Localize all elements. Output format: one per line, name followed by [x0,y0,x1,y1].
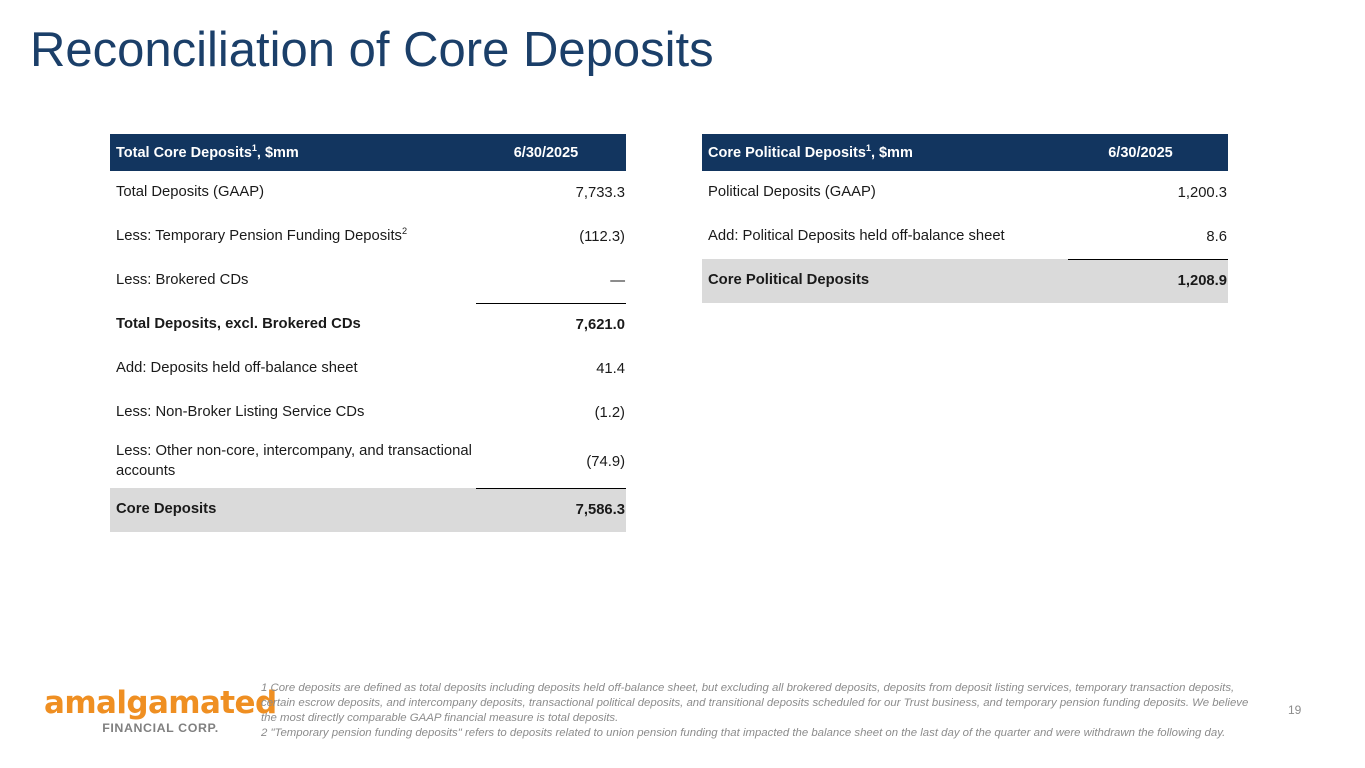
total-core-deposits-table: Total Core Deposits1, $mm 6/30/2025 Tota… [110,134,626,532]
row-value: — [476,273,626,289]
table-row: Political Deposits (GAAP) 1,200.3 [702,171,1228,215]
table-total-row: Core Political Deposits 1,208.9 [702,259,1228,303]
row-label: Add: Deposits held off-balance sheet [110,359,476,379]
table-header-row: Core Political Deposits1, $mm 6/30/2025 [702,134,1228,171]
footnote-2: 2 "Temporary pension funding deposits" r… [261,726,1251,741]
table-row: Add: Political Deposits held off-balance… [702,215,1228,259]
page-title: Reconciliation of Core Deposits [30,22,714,78]
row-label: Total Deposits, excl. Brokered CDs [110,315,476,335]
logo-wordmark: amalgamated [44,688,239,719]
table-row: Less: Temporary Pension Funding Deposits… [110,215,626,259]
table-row: Less: Brokered CDs — [110,259,626,303]
row-label: Less: Brokered CDs [110,271,476,291]
table-row: Add: Deposits held off-balance sheet 41.… [110,347,626,391]
company-logo: amalgamated FINANCIAL CORP. [44,688,239,734]
row-label: Core Deposits [110,500,476,520]
row-value: 41.4 [476,361,626,377]
row-value: 7,621.0 [476,317,626,333]
row-label: Less: Non-Broker Listing Service CDs [110,403,476,423]
footnote-1: 1 Core deposits are defined as total dep… [261,681,1251,726]
table-header-date: 6/30/2025 [466,145,626,161]
row-label: Less: Other non-core, intercompany, and … [110,442,492,481]
table-header-row: Total Core Deposits1, $mm 6/30/2025 [110,134,626,171]
row-value: (74.9) [492,454,626,470]
row-label: Political Deposits (GAAP) [702,183,1068,203]
row-value: 1,208.9 [1068,273,1228,289]
row-label: Add: Political Deposits held off-balance… [702,227,1068,247]
page-number: 19 [1288,703,1301,717]
table-row: Total Deposits (GAAP) 7,733.3 [110,171,626,215]
superscript-marker: 2 [402,226,407,236]
row-label: Core Political Deposits [702,271,1068,291]
logo-subtitle: FINANCIAL CORP. [44,722,239,734]
footnotes: 1 Core deposits are defined as total dep… [261,681,1251,741]
row-value: 7,586.3 [476,502,626,518]
table-subtotal-row: Total Deposits, excl. Brokered CDs 7,621… [110,303,626,347]
row-value: (112.3) [476,229,626,245]
row-value: 8.6 [1068,229,1228,245]
row-value: 7,733.3 [476,185,626,201]
row-label: Less: Temporary Pension Funding Deposits… [110,227,476,247]
table-header-label: Total Core Deposits1, $mm [110,145,466,161]
table-header-date: 6/30/2025 [1053,145,1228,161]
row-value: 1,200.3 [1068,185,1228,201]
table-row: Less: Other non-core, intercompany, and … [110,435,626,488]
table-total-row: Core Deposits 7,586.3 [110,488,626,532]
table-row: Less: Non-Broker Listing Service CDs (1.… [110,391,626,435]
row-value: (1.2) [476,405,626,421]
row-label: Total Deposits (GAAP) [110,183,476,203]
table-header-label: Core Political Deposits1, $mm [702,145,1053,161]
core-political-deposits-table: Core Political Deposits1, $mm 6/30/2025 … [702,134,1228,303]
